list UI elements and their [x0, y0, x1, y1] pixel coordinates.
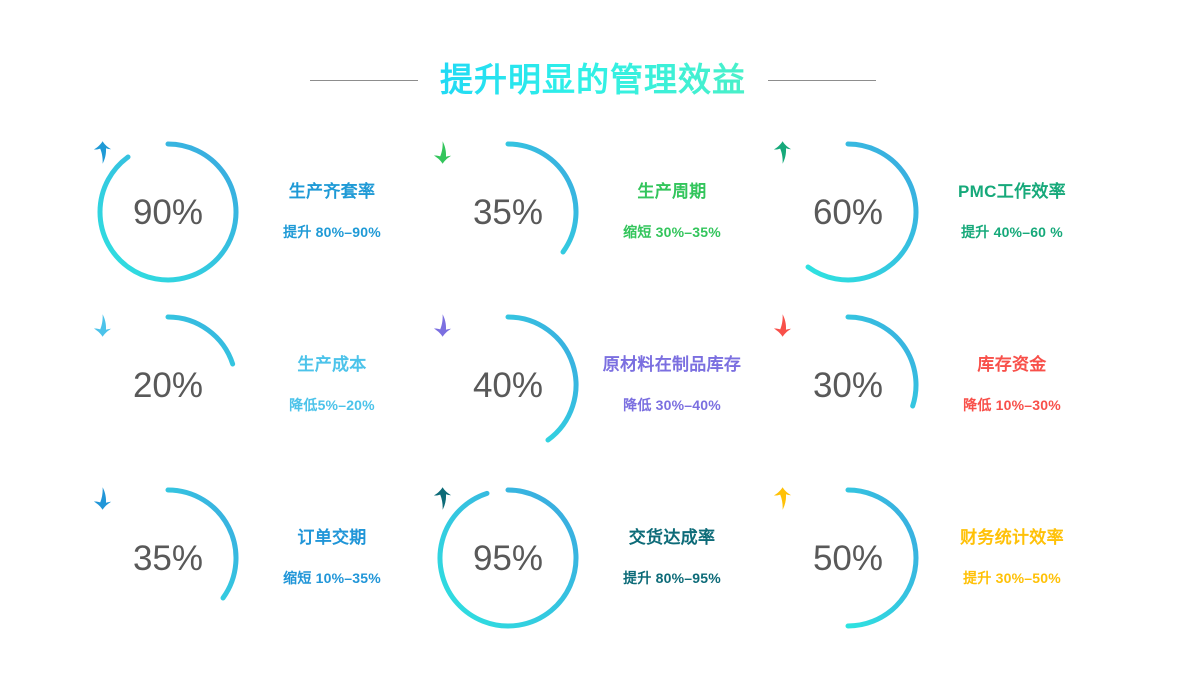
- metric-subtitle: 缩短 30%–35%: [623, 224, 721, 241]
- metric-value: 35%: [473, 195, 543, 230]
- progress-ring: 30%: [773, 310, 923, 460]
- arrow-down-icon: [773, 313, 792, 338]
- metric-text: 生产成本降低5%–20%: [257, 355, 407, 413]
- metric-subtitle: 降低 10%–30%: [963, 397, 1061, 414]
- metric-text: 库存资金降低 10%–30%: [937, 355, 1087, 413]
- metric-text: 财务统计效率提升 30%–50%: [937, 528, 1087, 586]
- header-rule-right: [768, 80, 876, 81]
- metric-subtitle: 提升 40%–60 %: [961, 224, 1063, 241]
- metric-card: 40%原材料在制品库存降低 30%–40%: [425, 298, 765, 471]
- metric-card: 35%生产周期缩短 30%–35%: [425, 125, 765, 298]
- metric-title: 订单交期: [297, 528, 366, 548]
- metric-value: 60%: [813, 195, 883, 230]
- metric-title: 交货达成率: [629, 528, 716, 548]
- arrow-up-icon: [773, 486, 792, 511]
- progress-ring: 40%: [433, 310, 583, 460]
- page-title: 提升明显的管理效益: [440, 60, 746, 100]
- metric-text: 订单交期缩短 10%–35%: [257, 528, 407, 586]
- metric-value: 95%: [473, 541, 543, 576]
- metric-title: 生产成本: [297, 355, 366, 375]
- progress-ring: 50%: [773, 483, 923, 633]
- metric-card: 20%生产成本降低5%–20%: [85, 298, 425, 471]
- progress-ring: 90%: [93, 137, 243, 287]
- metric-value: 20%: [133, 368, 203, 403]
- metric-value: 30%: [813, 368, 883, 403]
- metric-value: 40%: [473, 368, 543, 403]
- progress-ring: 35%: [93, 483, 243, 633]
- progress-ring: 60%: [773, 137, 923, 287]
- metric-subtitle: 降低5%–20%: [289, 397, 375, 414]
- arrow-down-icon: [433, 140, 452, 165]
- metric-value: 50%: [813, 541, 883, 576]
- metric-value: 90%: [133, 195, 203, 230]
- metric-card: 50%财务统计效率提升 30%–50%: [765, 471, 1105, 644]
- metric-subtitle: 提升 80%–90%: [283, 224, 381, 241]
- metric-title: 库存资金: [977, 355, 1046, 375]
- arrow-down-icon: [433, 313, 452, 338]
- metric-title: 生产齐套率: [289, 182, 376, 202]
- metrics-grid: 90%生产齐套率提升 80%–90%35%生产周期缩短 30%–35%60%PM…: [85, 125, 1105, 644]
- metric-card: 35%订单交期缩短 10%–35%: [85, 471, 425, 644]
- arrow-up-icon: [433, 486, 452, 511]
- metric-subtitle: 提升 80%–95%: [623, 570, 721, 587]
- metric-text: PMC工作效率提升 40%–60 %: [937, 182, 1087, 240]
- arrow-up-icon: [773, 140, 792, 165]
- metric-subtitle: 缩短 10%–35%: [283, 570, 381, 587]
- metric-card: 60%PMC工作效率提升 40%–60 %: [765, 125, 1105, 298]
- metric-value: 35%: [133, 541, 203, 576]
- metric-card: 95%交货达成率提升 80%–95%: [425, 471, 765, 644]
- metric-card: 30%库存资金降低 10%–30%: [765, 298, 1105, 471]
- metric-text: 原材料在制品库存降低 30%–40%: [597, 355, 747, 413]
- progress-ring: 95%: [433, 483, 583, 633]
- metric-text: 交货达成率提升 80%–95%: [597, 528, 747, 586]
- metric-subtitle: 降低 30%–40%: [623, 397, 721, 414]
- arrow-down-icon: [93, 313, 112, 338]
- arrow-up-icon: [93, 140, 112, 165]
- metric-text: 生产齐套率提升 80%–90%: [257, 182, 407, 240]
- metric-title: 财务统计效率: [960, 528, 1064, 548]
- header-rule-left: [310, 80, 418, 81]
- metric-title: 原材料在制品库存: [603, 355, 741, 375]
- metric-title: PMC工作效率: [958, 182, 1066, 202]
- progress-ring: 20%: [93, 310, 243, 460]
- progress-ring: 35%: [433, 137, 583, 287]
- arrow-down-icon: [93, 486, 112, 511]
- metric-text: 生产周期缩短 30%–35%: [597, 182, 747, 240]
- metric-card: 90%生产齐套率提升 80%–90%: [85, 125, 425, 298]
- metric-title: 生产周期: [637, 182, 706, 202]
- metric-subtitle: 提升 30%–50%: [963, 570, 1061, 587]
- page-header: 提升明显的管理效益: [0, 52, 1186, 108]
